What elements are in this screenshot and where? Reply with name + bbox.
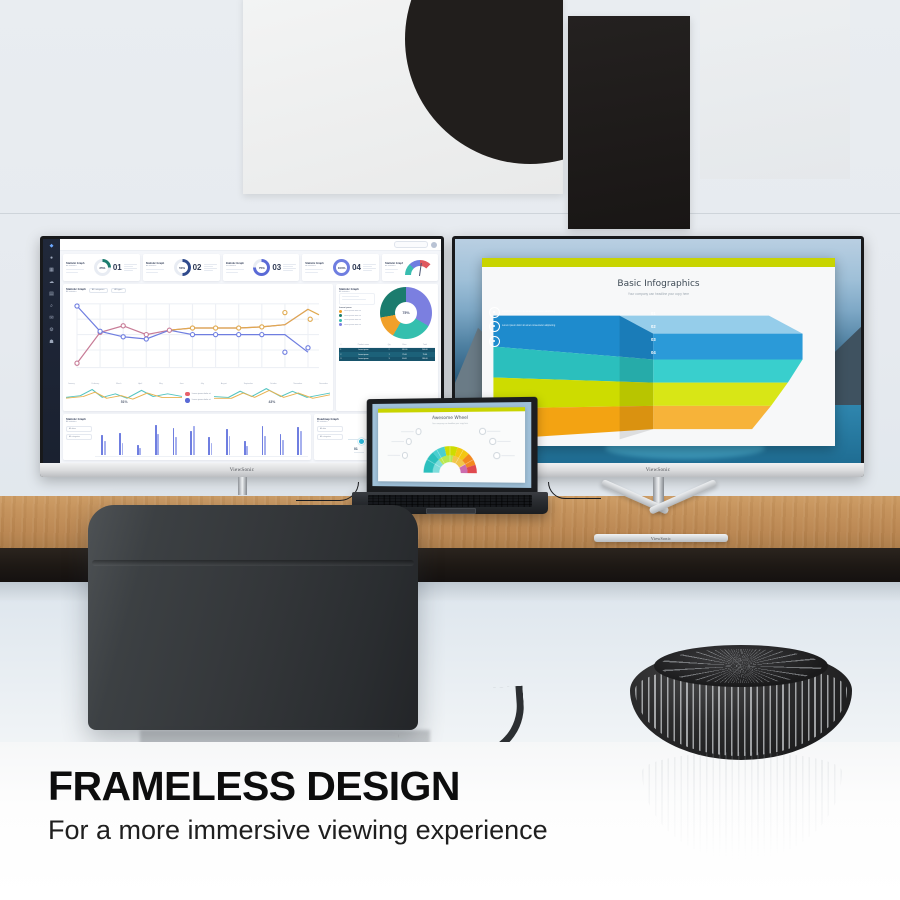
x-tick: April [138,383,142,385]
donut-center-value: 75% [402,311,409,315]
timeline-filter-a[interactable]: All data [317,426,343,432]
kpi-card[interactable]: Statistic Graph All statistics 50% 02 [143,254,220,281]
kpi-subtitle: All statistics [305,265,331,267]
kpi-placeholder-bars [146,269,172,273]
kpi-subtitle: All statistics [146,265,172,267]
bar-group [262,426,266,455]
x-tick: July [201,383,204,385]
line-chart-x-labels: January February March April May June Ju… [66,383,330,385]
layers-icon[interactable]: ▤ [48,291,55,298]
donut-filter-card[interactable] [339,293,375,305]
chair-seam [92,560,414,566]
wheel-label [388,452,408,458]
kpi-row: Statistic Graph All statistics 25% 01 [63,254,438,281]
wheel-label [493,452,515,459]
donut-wrap: Statistic Graph All statistics Lorem ips… [339,287,435,339]
kpi-ring-chart: 100% [333,259,350,276]
office-chair-back [88,505,418,730]
kpi-percent: 75% [259,266,265,270]
data-table: # Product name Qty Price Total [339,343,435,361]
slide-accent-bar [482,258,835,267]
x-tick: May [159,383,163,385]
kpi-text: Statistic Graph All statistics [146,262,172,273]
bar-group [297,427,301,455]
line-chart-footer: 51% Lorem ipsum dolor sit [66,386,330,408]
kpi-desc-lines [204,264,217,270]
laptop-lid: Awesome Wheel Your company can headline … [367,397,538,495]
bullet-icon [489,438,496,445]
kpi-ring-inner: 75% [256,262,267,273]
bar-chart-side: Statistic Graph All statistics All dates… [66,417,92,457]
bullet-icon [489,336,500,347]
slide-subtitle: Your company can headline your copy here [482,292,835,296]
table-row[interactable]: 3 Lorem ipsum 3 60.00 180.00 [339,357,435,361]
spark-right-value: 43% [214,400,330,404]
kpi-subtitle: All statistics [226,265,252,267]
sparkline-left: 51% [66,386,182,408]
table-cell: Lorem ipsum [343,357,384,361]
legend-label: Lorem ipsum dolor sit [344,310,361,312]
bullet-icon [402,452,408,458]
kpi-number: 04 [352,264,361,272]
x-tick: August [221,383,227,385]
cable-right [548,482,601,499]
legend-item: Lorem ipsum dolor sit [185,392,211,397]
kpi-number: 03 [272,264,281,272]
caption: FRAMELESS DESIGN For a more immersive vi… [48,766,548,846]
legend-label: Lorem ipsum dolor sit [344,315,361,317]
laptop-screen[interactable]: Awesome Wheel Your company can headline … [372,402,531,488]
kpi-ring-chart: 25% [94,259,111,276]
bar-group [119,433,123,455]
wall-seam [0,213,900,214]
wall-panel-right [700,0,850,179]
monitor-right-stand-base: ViewSonic [594,534,728,542]
dashboard-sidebar[interactable]: ◆ ● ▦ ☁ ▤ ⌕ ✉ ⚙ ☗ [43,239,60,463]
kpi-percent: 50% [179,266,185,270]
kpi-text: Statistic Graph All statistics [305,262,331,273]
timeline-side: Roadmap Graph All statistics All data Al… [317,417,343,457]
kpi-text: Statistic Graph All statistics [66,262,92,273]
legend-label: Lorem ipsum dolor sit [344,319,361,321]
line-chart-header: Statistic Graph All statistics All categ… [66,287,330,293]
x-tick: October [270,383,277,385]
legend-label: Lorem ipsum dolor sit [192,399,211,401]
bar-group [226,429,230,455]
legend-swatch [339,310,342,313]
bar-group [190,426,194,455]
laptop-slide-title: Awesome Wheel [378,415,525,421]
slide-title: Basic Infographics [482,279,835,289]
x-tick: February [92,383,100,385]
label-line [388,454,400,455]
kpi-text: Statistic Graph All statistics [226,262,252,273]
cloud-icon[interactable]: ☁ [48,279,55,286]
chart-subtitle: All statistics [66,421,92,423]
wheel-label [489,438,510,445]
timeline-filter-b[interactable]: All categories [317,434,343,440]
bullet-icon [489,321,500,332]
search-input[interactable] [394,241,428,248]
wheel-svg [420,441,482,475]
wheel-label [391,438,411,444]
line-plot-svg [66,295,330,383]
monitor-left-stand-neck [238,477,247,495]
bar-filter-a[interactable]: All dates [66,426,92,432]
kpi-card[interactable]: Statistic Graph All statistics 25% 01 [63,254,140,281]
kpi-ring-chart: 75% [253,259,270,276]
bar-group [244,441,248,455]
chart-subtitle: All statistics [66,291,86,293]
half-circle-shape [405,0,563,164]
kpi-ring-inner: 50% [177,262,188,273]
layer-number: 01 [651,311,656,316]
donut-side: Statistic Graph All statistics Lorem ips… [339,287,375,339]
legend-swatch [185,398,190,403]
ottoman-top-slats [660,649,822,683]
table-cell: 180.00 [415,357,435,361]
legend-label: Lorem ipsum dolor sit [192,393,211,395]
laptop-slide-accent-bar [378,407,525,413]
wheel-label [479,428,500,435]
legend-item: Lorem ipsum dolor sit [185,398,211,403]
kpi-card[interactable]: Statistic Graph All statistics 100% 04 [302,254,379,281]
label-line [487,430,500,431]
laptop-slide[interactable]: Awesome Wheel Your company can headline … [378,407,525,483]
mail-icon[interactable]: ✉ [48,315,55,322]
logo-icon[interactable]: ◆ [48,243,55,250]
search-icon[interactable]: ⌕ [48,303,55,310]
kpi-placeholder-bars [66,269,92,273]
layer-number: 03 [651,337,656,342]
sparkline-right: 43% [214,386,330,408]
dashboard-topbar [60,239,441,251]
layer-number: 02 [651,324,656,329]
kpi-card[interactable]: Statistic Graph All statistics 75% 03 [223,254,300,281]
x-tick: March [116,383,121,385]
bullet-icon [493,452,500,459]
kpi-percent: 100% [338,266,346,270]
category-filter-select[interactable]: All categories [89,288,108,293]
type-filter-select[interactable]: All types [111,288,126,293]
sparkline-left-svg [66,386,182,400]
legend-swatch [339,323,342,326]
kpi-number: 01 [113,264,122,272]
brand-label: ViewSonic [646,468,671,473]
label-line [401,431,414,432]
kpi-text: Statistic Graph All statistics [385,262,403,273]
base-brand-label: ViewSonic [651,536,671,541]
user-icon[interactable]: ● [48,255,55,262]
rattan-ottoman [630,648,852,760]
bar-group [155,425,159,455]
kpi-number: 02 [193,264,202,272]
x-tick: December [319,383,328,385]
legend-item: Lorem ipsum dolor sit [339,319,375,322]
layer-text: Lorem ipsum dolor sit amet consectetur a… [502,324,555,327]
wall-art-white [243,0,563,194]
table-body: 1 Lorem ipsum 2 120.00 240.00 2 [339,348,435,362]
bar-chart-card[interactable]: Statistic Graph All statistics All dates… [63,414,311,460]
bar-chart-plot [95,417,308,457]
legend-item: Lorem ipsum dolor sit [339,323,375,326]
kpi-placeholder-bars [226,269,252,273]
wheel-label [401,428,421,435]
bar-group [280,434,284,455]
kpi-card-gauge[interactable]: Statistic Graph All statistics [382,254,438,281]
kpi-desc-lines [283,264,296,270]
layer-number: 04 [651,350,656,355]
donut-legend-title: Lorem ipsum [339,307,375,309]
label-line [391,441,404,442]
chart-subtitle: All statistics [317,421,343,423]
mid-row: Statistic Graph All statistics All categ… [63,284,438,411]
bullet-icon [415,428,421,434]
kpi-placeholder-bars [305,269,331,273]
kpi-desc-lines [363,264,376,270]
kpi-ring-inner: 25% [97,262,108,273]
donut-hole: 75% [395,302,417,324]
line-chart-card[interactable]: Statistic Graph All statistics All categ… [63,284,333,411]
gauge-chart [405,260,435,276]
label-line [497,441,510,442]
kpi-subtitle: All statistics [66,265,92,267]
kpi-ring-chart: 50% [174,259,191,276]
gear-icon[interactable]: ⚙ [48,327,55,334]
donut-chart: 75% [380,287,432,339]
x-tick: September [244,383,253,385]
x-tick: January [68,383,75,385]
cable-left [296,482,359,501]
headline: FRAMELESS DESIGN [48,766,548,807]
legend-item: Lorem ipsum dolor sit [339,314,375,317]
line-chart-legend: Lorem ipsum dolor sit Lorem ipsum dolor … [185,392,211,403]
bar-filter-b[interactable]: All categories [66,434,92,440]
line-chart-titles: Statistic Graph All statistics [66,287,86,293]
wall-art-black [568,16,690,229]
table-cell: 3 [384,357,394,361]
trackpad[interactable] [426,508,476,514]
bullet-icon [489,307,500,318]
legend-label: Lorem ipsum dolor sit [344,324,361,326]
bullet-icon [479,428,486,435]
legend-item: Lorem ipsum dolor sit [339,310,375,313]
kpi-placeholder-bars [385,269,403,273]
x-tick: June [180,383,184,385]
kpi-desc-lines [124,264,137,270]
chart-icon[interactable]: ▦ [48,267,55,274]
product-photo-scene: ◆ ● ▦ ☁ ▤ ⌕ ✉ ⚙ ☗ [0,0,900,900]
profile-icon[interactable]: ☗ [48,339,55,346]
subhead: For a more immersive viewing experience [48,816,548,846]
laptop-slide-subtitle: Your company can headline your copy here [378,422,525,425]
legend-swatch [339,319,342,322]
spark-left-value: 51% [66,400,182,404]
donut-chart-card[interactable]: Statistic Graph All statistics Lorem ips… [336,284,438,411]
kpi-percent: 25% [99,266,105,270]
x-tick: November [294,383,303,385]
legend-swatch [339,314,342,317]
bullet-icon [405,438,411,444]
sparkline-right-svg [214,386,330,400]
brand-label: ViewSonic [230,468,255,473]
donut-legend: Lorem ipsum dolor sit Lorem ipsum dolor … [339,310,375,326]
label-line [501,455,514,456]
line-plot [66,295,330,383]
bar-group [101,435,105,455]
layer-text: Lorem ipsum dolor sit amet consectetur a… [502,310,555,313]
bar-group [173,428,177,455]
avatar[interactable] [431,242,437,248]
table-cell: 60.00 [394,357,414,361]
kpi-subtitle: All statistics [385,265,403,267]
bar-group [137,445,141,455]
wheel-infographic [420,441,482,475]
kpi-ring-inner: 100% [336,262,347,273]
legend-swatch [185,392,190,397]
bar-group [208,437,212,455]
